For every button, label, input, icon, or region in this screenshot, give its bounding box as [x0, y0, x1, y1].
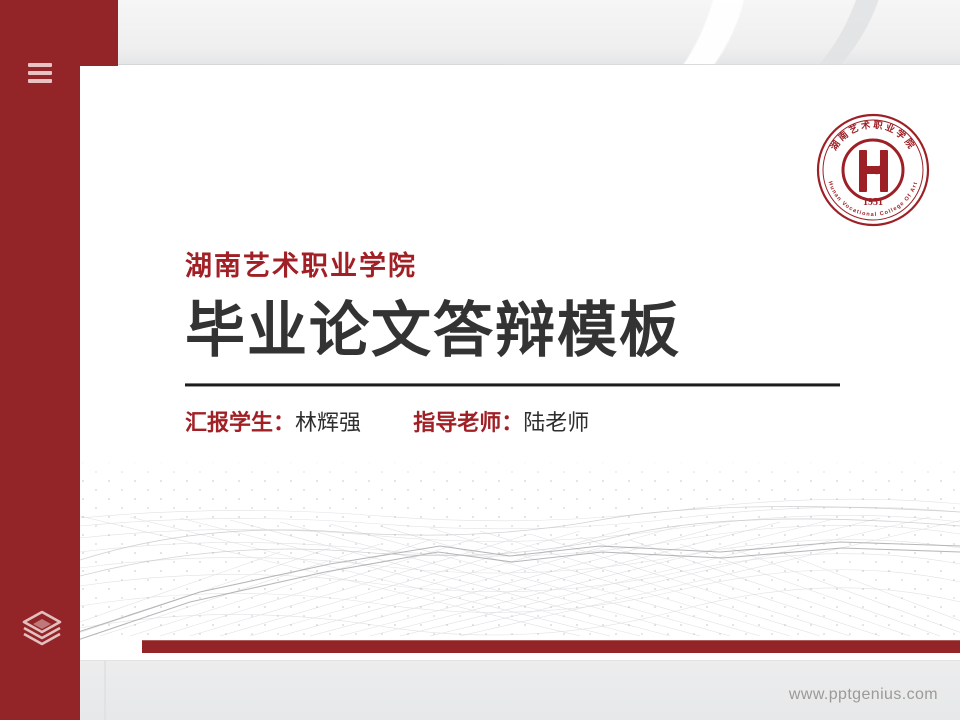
university-seal-logo: 1951 湖南艺术职业学院 Hunan Vocational College O…: [813, 110, 933, 230]
footer-divider: [104, 660, 106, 720]
school-name: 湖南艺术职业学院: [185, 250, 885, 282]
hamburger-menu-icon[interactable]: [28, 63, 52, 82]
page-root: 1951 湖南艺术职业学院 Hunan Vocational College O…: [0, 0, 960, 720]
presenter-name: 林辉强: [295, 410, 361, 435]
left-sidebar-top-extension: [0, 0, 118, 66]
presenter-label: 汇报学生：: [185, 410, 295, 435]
svg-text:1951: 1951: [863, 197, 883, 208]
hamburger-bar: [28, 63, 52, 67]
top-background-band: [0, 0, 960, 66]
advisor-name: 陆老师: [523, 410, 589, 435]
footer-url[interactable]: www.pptgenius.com: [789, 686, 938, 704]
page-title: 毕业论文答辩模板: [185, 296, 885, 365]
hamburger-bar: [28, 79, 52, 83]
title-divider-rule: [185, 383, 840, 387]
presentation-slide: 1951 湖南艺术职业学院 Hunan Vocational College O…: [80, 65, 960, 660]
credits-line: 汇报学生：林辉强 指导老师：陆老师: [185, 409, 885, 438]
slide-bottom-accent-bar: [142, 640, 960, 653]
hamburger-bar: [28, 71, 52, 75]
advisor-label: 指导老师：: [413, 410, 523, 435]
layers-icon[interactable]: [20, 608, 64, 648]
title-block: 湖南艺术职业学院 毕业论文答辩模板 汇报学生：林辉强 指导老师：陆老师: [185, 250, 885, 438]
wireframe-mesh-graphic: [80, 460, 960, 640]
